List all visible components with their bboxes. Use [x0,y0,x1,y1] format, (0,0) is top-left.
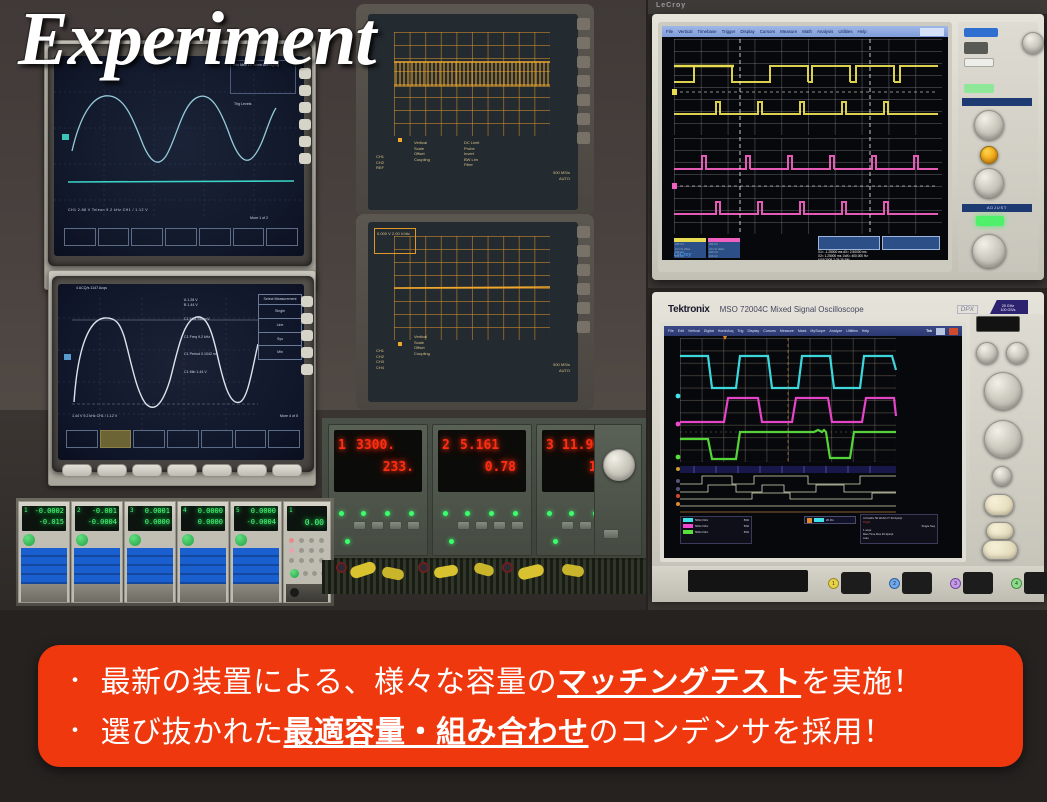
crt-flat-left-0: CH1 [376,348,384,354]
callout-line-1-seg-2: を実施！ [801,657,923,701]
psu-2-channel: 2 [442,438,450,453]
lecroy-readout-box-2 [882,236,940,250]
side-menu-4[interactable]: Min [258,346,302,360]
tektronix-horizontal-bar: 20.0G [804,516,856,524]
scope-trapezoid-measurement-list: A 1.28 V B 1.44 V C1 Max 948 mV C1 Freq … [184,298,250,375]
side-menu-2[interactable]: Line [258,319,302,333]
crt-flat-left-3: CH4 [376,365,384,371]
tektronix-knob-position[interactable] [984,420,1022,458]
scope-navy-bottom-readout: CH1 2.88 V Teleon 9.2 kHz CH1 / 1.12 V [68,208,148,213]
load-2-display: 2 -0.001 -0.0004 [75,506,119,531]
tektronix-measurement-panel: 500mV/div 50Ω 500mV/div 50Ω 500mV/div 50… [680,516,752,544]
tektronix-trace-cyan [680,356,896,388]
load-1-channel: 1 [24,507,28,514]
scope-trapezoid-side-menu[interactable]: Select Measurement Single Line Sys Min [258,294,302,360]
tek-horiz-label: 20.0G [826,518,834,522]
load-5-display: 5 0.0000 -0.0004 [234,506,278,531]
tek-ch4-connector-icon[interactable] [1024,572,1047,594]
scope-trapezoid-page-indicator: More 4 of 5 [280,414,298,419]
tektronix-channel-2[interactable]: 2 [889,572,932,594]
load-1-panel [21,548,67,586]
load-2-channel: 2 [77,507,81,514]
load-4-display: 4 0.0000 0.0000 [181,506,225,531]
tektronix-mini-display [976,316,1020,332]
measurement-2: C1 Max 948 mV [184,317,250,322]
crt-flat-badge-text: 0.000 V 2.00 V/div [375,229,415,239]
crt-flat-mid-3: Coupling [414,351,430,357]
crt-burst-labels-mid: Vertical Scale Offset Coupling [414,140,430,162]
lecroy-cursor-readout: X1= -1.25000 ms dX= 2.50000 ms X2= 1.250… [818,250,868,260]
tek-row-2-value: 50Ω [744,530,749,534]
tek-row-0-label: 500mV/div [695,518,708,522]
tektronix-channel-connectors[interactable]: 1 2 3 4 [828,572,1047,594]
scope-trapezoid-header: 4 ACQ/s 1147 Acqs [76,286,107,291]
lecroy-white-button[interactable] [964,58,994,67]
scope-navy-right-buttons[interactable] [296,60,314,240]
callout-line-2: ・ 選び抜かれた 最適容量・組み合わせ のコンデンサを採用！ [64,707,997,751]
measurement-4: C1 Period 0.1042 ms [184,352,250,357]
lecroy-dark-button[interactable] [964,42,988,54]
power-supply-unit-2[interactable]: 2 5.161 0.78 [432,424,532,556]
tektronix-model: MSO 72004C Mixed Signal Oscilloscope [720,305,864,314]
lecroy-knob-lower[interactable] [974,168,1004,198]
tektronix-button-multipurpose[interactable] [984,494,1014,516]
tektronix-brand: Tektronix [668,304,710,315]
crt-burst-mid-3: Coupling [414,157,430,163]
electronic-load-3[interactable]: 3 0.0001 0.0000 [124,501,176,603]
crt-flat-labels-mid: Vertical Scale Offset Coupling [414,334,430,356]
crt-burst-side-buttons[interactable] [574,18,592,208]
lecroy-knob-upper[interactable] [974,110,1004,140]
scope-trapezoid-bottom-buttons[interactable] [62,464,302,477]
tek-horiz-icon [807,518,812,523]
electronic-load-4[interactable]: 4 0.0000 0.0000 [177,501,229,603]
tektronix-dpx-badge: DPX [957,305,978,314]
lecroy-channel-badge-2[interactable]: 200 mV 0.0 mV offset 400 mV 100 mV [708,238,740,258]
psu-3-channel: 3 [546,438,554,453]
crt-flat-samplerate: 500 MS/s [553,362,570,368]
tektronix-channel-1[interactable]: 1 [828,572,871,594]
load-2-knob[interactable] [76,534,88,546]
lecroy-green-button[interactable] [964,84,994,93]
load-5-knob[interactable] [235,534,247,546]
crt-burst-label-ref: REF [376,165,384,171]
lecroy-amber-indicator[interactable] [980,146,998,164]
psu-1-channel: 1 [338,438,346,453]
psu-1-voltage: 3300. [356,438,395,453]
tektronix-measurement-row-2: 500mV/div 50Ω [681,529,751,535]
load-1-bottom: -0.015 [39,518,64,526]
crt-burst-screen: CH1 CH2 REF Vertical Scale Offset Coupli… [368,14,578,210]
crt-burst-status: 500 MS/s AUTO [553,170,570,181]
photo-collage: Info Msn Lvl when Averaging Trig Levels … [0,0,1047,610]
tek-row-2-color-chip [683,530,693,534]
psu-2-controls[interactable] [437,501,527,549]
tek-row-0-value: 50Ω [744,518,749,522]
side-menu-0[interactable]: Select Measurement [258,294,302,305]
tektronix-screen: File Edit Vertical Digital Horiz/Acq Tri… [664,326,962,558]
tektronix-status-panel: 4.0ns/div 50.0GS/s IT 20.0ps/pt Trig'd S… [860,514,938,544]
load-1-knob[interactable] [23,534,35,546]
psu-2-current: 0.78 [485,460,516,475]
load-4-panel [180,548,226,586]
psu-master-knob[interactable] [603,449,635,481]
crt-burst-right-4: Filter [464,162,479,168]
crt-burst-label-ch1: CH1 [376,154,384,160]
lecroy-photo-top-strip: LeCroy [648,0,1047,14]
scope-trapezoid-bottom-readout: 1.44 V 9.2 kHz CH1 / 1.12 V [72,414,117,419]
crt-burst-mode: AUTO [553,176,570,182]
load-4-knob[interactable] [182,534,194,546]
callout-line-1: ・ 最新の装置による、様々な容量の マッチングテスト を実施！ [64,657,997,701]
load-1-top: -0.0002 [34,507,64,515]
tektronix-connector-strip: 1 2 3 4 [652,566,1044,602]
load-4-bottom: 0.0000 [198,518,223,526]
tek-row-1-color-chip [683,524,693,528]
crt-burst-right-0: DC Limit [464,140,479,146]
callout-box: ・ 最新の装置による、様々な容量の マッチングテスト を実施！ ・ 選び抜かれた… [38,645,1023,767]
photo-lecroy-oscilloscope: LeCroy File Vertical Timebase Trigger Di… [648,0,1047,288]
load-4-channel: 4 [183,507,187,514]
tek-ch1-number: 1 [828,578,839,589]
tektronix-channel-3[interactable]: 3 [950,572,993,594]
electronic-load-1[interactable]: 1 -0.0002 -0.015 [18,501,70,603]
tek-row-1-label: 500mV/div [695,524,708,528]
lecroy-magenta-square-2 [674,202,938,214]
cable-harness-area [322,560,646,594]
load-main-value: 0.00 [305,518,324,527]
load-2-terminals[interactable] [74,584,120,602]
tek-row-0-color-chip [683,518,693,522]
scope-navy-page-indicator: More 1 of 2 [250,216,268,221]
tektronix-button-offset[interactable] [986,522,1014,540]
crt-flat-labels-left: CH1 CH2 CH3 CH4 [376,348,384,370]
photo-lab-bench: Info Msn Lvl when Averaging Trig Levels … [0,0,646,610]
tek-ch4-number: 4 [1011,578,1022,589]
crt-flat-left-2: CH3 [376,359,384,365]
tektronix-samplerate: 100 GS/s [1001,309,1016,313]
lecroy-run-indicator[interactable] [976,216,1004,226]
lecroy-adjust-label: ADJUST [962,204,1032,212]
load-5-bottom: -0.0004 [246,518,276,526]
lecroy-yellow-square-1 [674,66,938,82]
tektronix-button-fine[interactable] [982,540,1018,560]
load-3-terminals[interactable] [127,584,173,602]
lecroy-adjust-knob[interactable] [972,234,1006,268]
psu-master-controller[interactable] [594,424,642,556]
scope-navy-softkey-row[interactable] [64,228,298,246]
scope-trapezoid-right-buttons[interactable] [298,290,316,460]
electronic-load-rack: 1 -0.0002 -0.015 2 -0.001 -0.0004 [16,498,334,606]
tektronix-front-panel [970,314,1044,562]
tek-ch3-connector-icon[interactable] [963,572,993,594]
electronic-load-2[interactable]: 2 -0.001 -0.0004 [71,501,123,603]
psu-1-controls[interactable] [333,501,423,549]
tektronix-knob-small[interactable] [992,466,1012,486]
page-title: Experiment [18,0,375,83]
callout-line-2-seg-1: 最適容量・組み合わせ [284,707,589,751]
lecroy-brand-top: LeCroy [656,2,686,9]
load-3-display: 3 0.0001 0.0000 [128,506,172,531]
lecroy-front-panel: ADJUST [958,22,1038,272]
lecroy-magenta-square-1 [674,156,938,169]
lecroy-panel-divider-1 [962,98,1032,106]
crt-burst-labels-right: DC Limit Probe Invert BW Lim Filter [464,140,479,168]
load-5-top: 0.0000 [251,507,276,515]
tek-ch3-number: 3 [950,578,961,589]
callout-line-1-seg-1: マッチングテスト [557,657,801,701]
slide-root: Info Msn Lvl when Averaging Trig Levels … [0,0,1047,802]
load-3-bottom: 0.0000 [145,518,170,526]
tektronix-knob-vertical[interactable] [976,342,998,364]
electronic-load-5[interactable]: 5 0.0000 -0.0004 [230,501,282,603]
callout-bullet-2: ・ [64,713,87,745]
load-3-channel: 3 [130,507,134,514]
load-5-terminals[interactable] [233,584,279,602]
power-supply-unit-1[interactable]: 1 3300. 233. [328,424,428,556]
callout-line-2-seg-0: 選び抜かれた [101,707,284,751]
psu-1-display: 1 3300. 233. [334,430,422,492]
load-3-top: 0.0001 [145,507,170,515]
scope-trapezoid-softkey-row[interactable] [66,430,300,448]
crt-burst-labels-left: CH1 CH2 REF [376,154,384,171]
tek-ch1-connector-icon[interactable] [841,572,871,594]
crt-flat-mode: AUTO [553,368,570,374]
callout-line-2-seg-2: のコンデンサを採用！ [589,707,894,751]
lecroy-timestamp: 6/15/2008 2:25:25 PM [818,258,868,260]
scope-trapezoid-screen: 4 ACQ/s 1147 Acqs A 1.28 V B 1.44 V C1 M… [58,284,304,460]
load-4-terminals[interactable] [180,584,226,602]
load-main-channel: 1 [289,507,293,514]
load-3-panel [127,548,173,586]
load-main-keypad[interactable] [287,536,327,582]
scope-navy-triglevel-label: Trig Levels [234,102,251,107]
scope-navy-screen: Info Msn Lvl when Averaging Trig Levels … [54,56,304,256]
lecroy-badge-2-l3: 100 mV [708,255,740,259]
load-2-panel [74,548,120,586]
tek-row-2-label: 500mV/div [695,530,708,534]
crt-flat-status: 500 MS/s AUTO [553,362,570,373]
lecroy-readout-box-1 [818,236,880,250]
tektronix-channel-4[interactable]: 4 [1011,572,1047,594]
crt-burst-samplerate: 500 MS/s [553,170,570,176]
tektronix-knob-scale[interactable] [984,372,1022,410]
side-menu-3[interactable]: Sys [258,333,302,347]
crt-flat-screen: 0.000 V 2.00 V/div CH1 CH2 CH3 CH4 Verti… [368,222,578,402]
measurement-3: C1 Freq 9.2 kHz [184,335,250,340]
callout-bullet-1: ・ [64,663,87,695]
side-menu-1[interactable]: Single [258,305,302,319]
lecroy-logo-screen: LeCroy [674,252,691,258]
callout-line-1-seg-0: 最新の装置による、様々な容量の [101,657,558,701]
load-4-top: 0.0000 [198,507,223,515]
psu-2-voltage: 5.161 [460,438,499,453]
lecroy-blue-button[interactable] [964,28,998,37]
load-5-channel: 5 [236,507,240,514]
tek-row-1-value: 50Ω [744,524,749,528]
psu-1-current: 233. [383,460,414,475]
photo-tektronix-oscilloscope: Tektronix MSO 72004C Mixed Signal Oscill… [648,290,1047,610]
load-1-display: 1 -0.0002 -0.015 [22,506,66,531]
load-2-top: -0.001 [92,507,117,515]
tek-ch2-connector-icon[interactable] [902,572,932,594]
load-1-terminals[interactable] [21,584,67,602]
measurement-1: B 1.44 V [184,303,250,308]
load-5-panel [233,548,279,586]
tek-auto-label: Auto [863,536,935,540]
lecroy-screen: File Vertical Timebase Trigger Display C… [662,26,948,260]
load-2-bottom: -0.0004 [87,518,117,526]
tektronix-knob-horizontal[interactable] [1006,342,1028,364]
tek-ch2-number: 2 [889,578,900,589]
lecroy-corner-knob[interactable] [1022,32,1044,54]
psu-2-display: 2 5.161 0.78 [438,430,526,492]
crt-flat-badge: 0.000 V 2.00 V/div [374,228,416,254]
tektronix-io-block [688,570,808,592]
measurement-5: C1 Min 1.44 V [184,370,250,375]
lecroy-yellow-square-2 [674,102,938,114]
load-3-knob[interactable] [129,534,141,546]
tek-horiz-chip [814,518,824,522]
crt-flat-side-buttons[interactable] [574,226,592,402]
load-main-display: 1 0.00 [287,506,327,531]
